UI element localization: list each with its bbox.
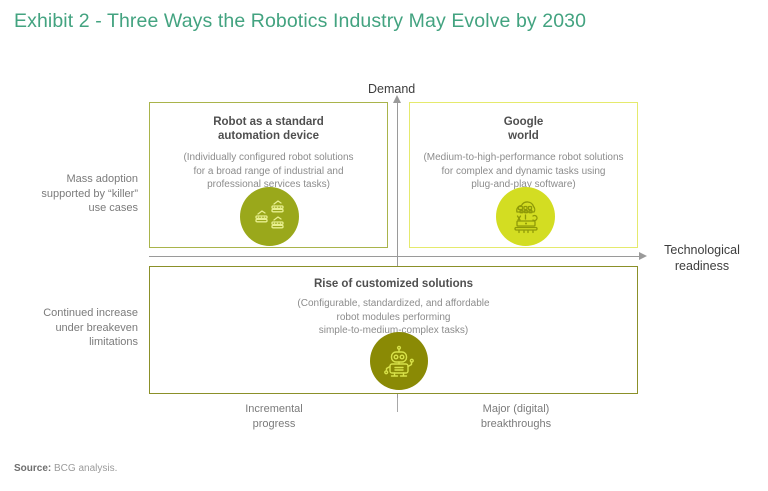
quadrant-top-right-title: Google world — [410, 115, 637, 143]
quadrant-top-left-title: Robot as a standard automation device — [150, 115, 387, 143]
x-axis-tick-label-left: Incremental progress — [199, 402, 349, 431]
y-tick-top-line1: Mass adoption — [8, 172, 138, 187]
y-tick-top-line3: use cases — [8, 201, 138, 216]
quadrant-top-left-description: (Individually configured robot solutions… — [150, 151, 387, 192]
quadrant-top-left-desc-line2: for a broad range of industrial and — [162, 165, 375, 179]
x-tick-right-line2: breakthroughs — [441, 417, 591, 432]
quadrant-top-right-description: (Medium-to-high-performance robot soluti… — [410, 151, 637, 192]
x-axis-label-line1: Technological — [652, 242, 752, 258]
friendly-robot-icon — [370, 332, 428, 390]
x-axis-label: Technological readiness — [652, 242, 752, 274]
horizontal-axis-line — [149, 256, 641, 257]
x-tick-left-line2: progress — [199, 417, 349, 432]
quadrant-top-left-title-line2: automation device — [150, 129, 387, 143]
page-title: Exhibit 2 - Three Ways the Robotics Indu… — [14, 10, 586, 33]
vertical-axis-arrowhead-icon — [393, 95, 401, 103]
y-tick-bottom-line2: under breakeven — [8, 321, 138, 336]
quadrant-bottom-title: Rise of customized solutions — [150, 277, 637, 291]
y-tick-top-line2: supported by “killer” — [8, 187, 138, 202]
quadrant-top-left-title-line1: Robot as a standard — [150, 115, 387, 129]
quadrant-top-right-title-line2: world — [410, 129, 637, 143]
y-axis-tick-label-high-demand: Mass adoption supported by “killer” use … — [8, 172, 138, 216]
source-text: BCG analysis. — [51, 463, 117, 474]
quadrant-top-right-desc-line2: for complex and dynamic tasks using — [422, 165, 625, 179]
x-tick-right-line1: Major (digital) — [441, 402, 591, 417]
y-tick-bottom-line3: limitations — [8, 335, 138, 350]
cloud-connected-robot-icon — [496, 187, 555, 246]
horizontal-axis-arrowhead-icon — [639, 252, 647, 260]
y-axis-tick-label-low-demand: Continued increase under breakeven limit… — [8, 306, 138, 350]
x-axis-tick-label-right: Major (digital) breakthroughs — [441, 402, 591, 431]
x-axis-center-tick — [397, 398, 398, 412]
quadrant-bottom-desc-line1: (Configurable, standardized, and afforda… — [162, 297, 625, 311]
quadrant-top-right-desc-line1: (Medium-to-high-performance robot soluti… — [422, 151, 625, 165]
x-axis-label-line2: readiness — [652, 258, 752, 274]
y-axis-label: Demand — [368, 82, 415, 96]
x-tick-left-line1: Incremental — [199, 402, 349, 417]
quadrant-top-left-desc-line1: (Individually configured robot solutions — [162, 151, 375, 165]
quadrant-top-right-title-line1: Google — [410, 115, 637, 129]
industrial-robot-arms-icon — [240, 187, 299, 246]
y-tick-bottom-line1: Continued increase — [8, 306, 138, 321]
source-label: Source: — [14, 463, 51, 474]
quadrant-bottom-desc-line2: robot modules performing — [162, 311, 625, 325]
source-note: Source: BCG analysis. — [14, 463, 117, 474]
quadrant-bottom-title-line1: Rise of customized solutions — [150, 277, 637, 291]
